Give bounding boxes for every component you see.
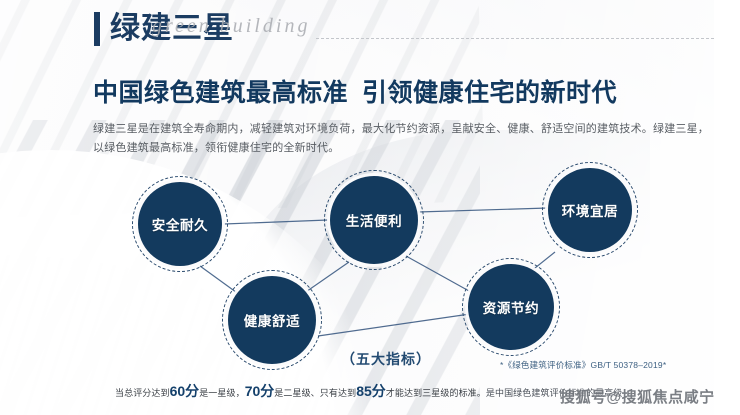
accent-bar-icon xyxy=(94,12,101,46)
watermark-text: 搜狐号@搜狐焦点咸宁站 xyxy=(560,386,727,407)
node-convenience-label: 生活便利 xyxy=(346,210,402,230)
node-environment-label: 环境宜居 xyxy=(562,200,618,220)
page-title-part2: 引领健康住宅的新时代 xyxy=(362,79,617,107)
edge-health-resource xyxy=(318,314,470,336)
node-health[interactable]: 健康舒适 xyxy=(228,276,316,364)
scoring-mid-three: 才能达到三星级的标准。 xyxy=(386,388,486,398)
node-safety-label: 安全耐久 xyxy=(152,214,208,234)
scoring-score-one-star: 60分 xyxy=(170,383,200,399)
page-title: 中国绿色建筑最高标准引领健康住宅的新时代 xyxy=(93,78,617,108)
node-resource[interactable]: 资源节约 xyxy=(468,264,554,350)
standard-reference-note: *《绿色建筑评价标准》GB/T 50378–2019* xyxy=(500,359,666,371)
scoring-mid-two: 是二星级、只有达到 xyxy=(274,388,356,398)
page-title-part1: 中国绿色建筑最高标准 xyxy=(93,79,348,107)
node-safety[interactable]: 安全耐久 xyxy=(138,182,222,266)
scoring-mid-one: 是一星级， xyxy=(199,388,245,398)
node-convenience[interactable]: 生活便利 xyxy=(330,176,418,264)
node-resource-label: 资源节约 xyxy=(483,297,539,317)
slide-canvas: 绿建三星 green building 中国绿色建筑最高标准引领健康住宅的新时代… xyxy=(0,0,727,415)
node-health-label: 健康舒适 xyxy=(244,310,300,330)
scoring-score-three-star: 85分 xyxy=(356,383,386,399)
scoring-note: 当总评分达到60分是一星级，70分是二星级、只有达到85分才能达到三星级的标准。… xyxy=(115,381,622,401)
edge-convenience-environment xyxy=(418,208,548,212)
scoring-lead: 当总评分达到 xyxy=(115,388,170,398)
brand-title-en: green building xyxy=(152,15,310,38)
intro-paragraph: 绿建三星是在建筑全寿命期内，减轻建筑对环境负荷，最大化节约资源，呈献安全、健康、… xyxy=(93,120,713,158)
scoring-score-two-star: 70分 xyxy=(245,383,275,399)
edge-safety-convenience xyxy=(224,220,328,224)
indicator-caption: （五大指标） xyxy=(341,349,431,369)
header-divider xyxy=(316,38,714,39)
node-environment[interactable]: 环境宜居 xyxy=(548,168,632,252)
right-margin xyxy=(714,0,727,415)
five-indicator-diagram: 安全耐久 生活便利 环境宜居 健康舒适 资源节约 （五大指标） xyxy=(0,168,727,373)
